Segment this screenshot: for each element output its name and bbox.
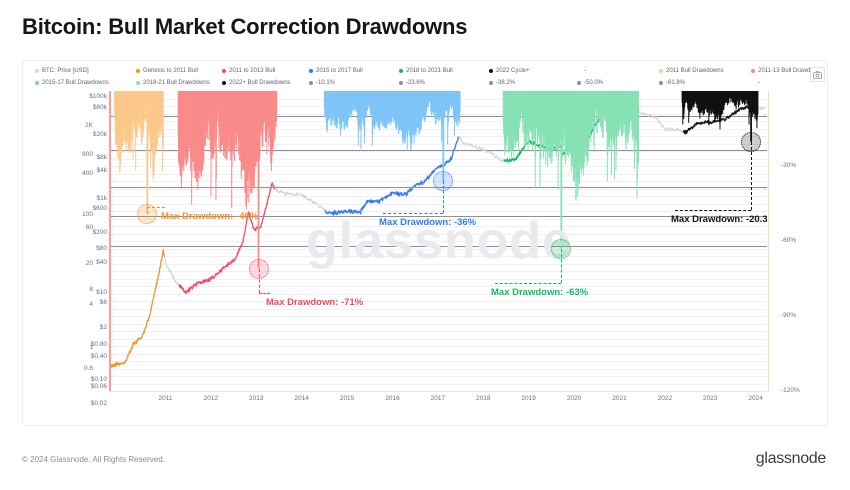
- legend-item[interactable]: BTC: Price [USD]: [35, 65, 89, 77]
- y-axis-price-tick-label: $0.80: [81, 341, 107, 348]
- x-axis-tick-label: 2018: [476, 395, 490, 402]
- legend-color-dot: [309, 69, 313, 73]
- max-drawdown-annotation-label: Max Drawdown: -36%: [379, 217, 476, 228]
- legend-item-label: -: [758, 77, 760, 89]
- max-drawdown-annotation-label: Max Drawdown: -71%: [266, 297, 363, 308]
- legend-item[interactable]: 2022 Cycle+: [489, 65, 530, 77]
- y-axis-price-tick-label: $6: [81, 299, 107, 306]
- legend-item[interactable]: 2015 to 2017 Bull: [309, 65, 363, 77]
- legend-item[interactable]: -23.6%: [399, 77, 425, 89]
- series-canvas: glassnode Max Drawdown: -49%Max Drawdown…: [111, 91, 767, 391]
- y-axis-price-tick-label: $20k: [81, 131, 107, 138]
- y-axis-price-tick-label: $0.40: [81, 353, 107, 360]
- legend-item-label: 2011 to 2013 Bull: [229, 65, 275, 77]
- legend-color-dot: [35, 69, 39, 73]
- x-axis-tick-label: 2011: [158, 395, 172, 402]
- legend-color-dot: [136, 81, 140, 85]
- x-axis-tick-label: 2016: [385, 395, 399, 402]
- annotation-connector: [383, 213, 443, 214]
- x-axis-tick-label: 2022: [658, 395, 672, 402]
- legend-row-2: 2015-17 Bull Drawdowns2018-21 Bull Drawd…: [29, 77, 829, 89]
- legend-color-dot: [222, 69, 226, 73]
- x-axis-tick-label: 2015: [340, 395, 354, 402]
- legend-item[interactable]: -38.2%: [489, 77, 515, 89]
- annotation-stem: [443, 181, 444, 213]
- x-axis-tick-label: 2013: [249, 395, 263, 402]
- legend-item-label: 2011 Bull Drawdowns: [666, 65, 724, 77]
- y-axis-price-tick-label: $40: [81, 259, 107, 266]
- legend-item[interactable]: 2011 to 2013 Bull: [222, 65, 275, 77]
- legend-color-dot: [136, 69, 140, 73]
- max-drawdown-annotation-label: Max Drawdown: -20.3%: [671, 214, 767, 225]
- y-axis-price-tick-label: $60k: [81, 104, 107, 111]
- y-axis-drawdown-tick-label: -60%: [781, 237, 825, 244]
- y-axis-price-tick-label: $8k: [81, 154, 107, 161]
- y-axis-price-tick-label: $4k: [81, 167, 107, 174]
- legend-item-label: BTC: Price [USD]: [42, 65, 89, 77]
- legend-item[interactable]: -61.8%: [659, 77, 685, 89]
- chart-card: BTC: Price [USD]Genesis to 2011 Bull2011…: [22, 60, 828, 426]
- legend-item-label: 2015 to 2017 Bull: [316, 65, 363, 77]
- annotation-connector: [675, 210, 751, 211]
- footer-copyright: © 2024 Glassnode. All Rights Reserved.: [22, 455, 165, 464]
- y-axis-price-tick-label: $100k: [81, 93, 107, 100]
- max-drawdown-annotation-label: Max Drawdown: -49%: [161, 211, 258, 222]
- legend-color-dot: [489, 69, 493, 73]
- annotation-stem: [751, 142, 752, 210]
- y-axis-price-tick-label: $0.02: [81, 400, 107, 407]
- legend-color-dot: [751, 69, 755, 73]
- drawdown-band: [178, 91, 278, 269]
- y-axis-price-tick-label: $80: [81, 245, 107, 252]
- legend-color-dot: [751, 81, 755, 85]
- price-line: [111, 250, 165, 368]
- x-axis-tick-label: 2019: [521, 395, 535, 402]
- legend-item-label: -23.6%: [406, 77, 425, 89]
- legend-item[interactable]: -10.1%: [309, 77, 335, 89]
- legend-item-label: 2015-17 Bull Drawdowns: [42, 77, 109, 89]
- legend-item[interactable]: 2018-21 Bull Drawdowns: [136, 77, 210, 89]
- y-axis-price-tick-label: $2: [81, 324, 107, 331]
- legend-item-label: -38.2%: [496, 77, 515, 89]
- legend-item-label: -61.8%: [666, 77, 685, 89]
- legend-item-label: 2018 to 2021 Bull: [406, 65, 453, 77]
- legend-item[interactable]: -: [751, 77, 760, 89]
- legend-item[interactable]: 2015-17 Bull Drawdowns: [35, 77, 109, 89]
- legend-item[interactable]: 2011 Bull Drawdowns: [659, 65, 724, 77]
- y-axis-drawdown-tick-label: -90%: [781, 312, 825, 319]
- legend-item[interactable]: -50.0%: [577, 77, 603, 89]
- annotation-connector: [495, 283, 561, 284]
- legend-item[interactable]: Genesis to 2011 Bull: [136, 65, 198, 77]
- annotation-stem: [259, 269, 260, 294]
- legend-color-dot: [309, 81, 313, 85]
- legend-item-label: -50.0%: [584, 77, 603, 89]
- legend-item[interactable]: 2022+ Bull Drawdowns: [222, 77, 291, 89]
- chart-svg: [111, 91, 767, 391]
- chart-legend: BTC: Price [USD]Genesis to 2011 Bull2011…: [23, 61, 829, 91]
- x-axis-tick-label: 2023: [703, 395, 717, 402]
- annotation-connector: [147, 207, 165, 208]
- y-axis-drawdown-tick-label: -30%: [781, 162, 825, 169]
- legend-color-dot: [489, 81, 493, 85]
- y-axis-right-spine: [768, 91, 770, 391]
- legend-item[interactable]: 2018 to 2021 Bull: [399, 65, 453, 77]
- legend-item-label: 2022+ Bull Drawdowns: [229, 77, 291, 89]
- y-axis-price-tick-label: $10: [81, 289, 107, 296]
- legend-color-dot: [222, 81, 226, 85]
- y-axis-tick-label: 0.6: [63, 365, 93, 372]
- legend-color-dot: [399, 81, 403, 85]
- annotation-connector: [259, 293, 270, 294]
- max-drawdown-annotation-label: Max Drawdown: -63%: [491, 287, 588, 298]
- footer-logo: glassnode: [756, 450, 826, 468]
- legend-item-label: -10.1%: [316, 77, 335, 89]
- y-axis-price-tick-label: $0.10: [81, 376, 107, 383]
- legend-row-1: BTC: Price [USD]Genesis to 2011 Bull2011…: [29, 65, 829, 77]
- legend-item-label: 2022 Cycle+: [496, 65, 530, 77]
- annotation-stem: [561, 249, 562, 284]
- legend-item-label: Genesis to 2011 Bull: [143, 65, 198, 77]
- drawdown-band: [114, 91, 164, 214]
- camera-icon[interactable]: [810, 67, 825, 82]
- x-axis-tick-label: 2021: [612, 395, 626, 402]
- legend-color-dot: [399, 69, 403, 73]
- legend-item[interactable]: -: [577, 65, 586, 77]
- x-axis-tick-label: 2012: [204, 395, 218, 402]
- drawdown-band: [503, 91, 639, 249]
- x-axis-tick-label: 2020: [567, 395, 581, 402]
- y-axis-drawdown-tick-label: -120%: [781, 387, 825, 394]
- page-title: Bitcoin: Bull Market Correction Drawdown…: [22, 14, 467, 40]
- legend-color-dot: [35, 81, 39, 85]
- legend-color-dot: [659, 81, 663, 85]
- x-axis-line: [109, 391, 769, 392]
- y-axis-tick-label: 2K: [63, 122, 93, 129]
- legend-color-dot: [577, 69, 581, 73]
- x-axis-tick-label: 2024: [748, 395, 762, 402]
- price-line: [111, 105, 765, 367]
- legend-item-label: -: [584, 65, 586, 77]
- legend-color-dot: [577, 81, 581, 85]
- legend-color-dot: [659, 69, 663, 73]
- y-axis-price-tick-label: $600: [81, 205, 107, 212]
- x-axis-tick-label: 2014: [294, 395, 308, 402]
- y-axis-price-tick-label: $1k: [81, 195, 107, 202]
- plot-area: 2K80040010060208410.6 $100k$60k$20k$8k$4…: [23, 91, 829, 427]
- y-axis-price-tick-label: $200: [81, 229, 107, 236]
- x-axis-tick-label: 2017: [431, 395, 445, 402]
- legend-item-label: 2018-21 Bull Drawdowns: [143, 77, 210, 89]
- y-axis-price-tick-label: $0.06: [81, 383, 107, 390]
